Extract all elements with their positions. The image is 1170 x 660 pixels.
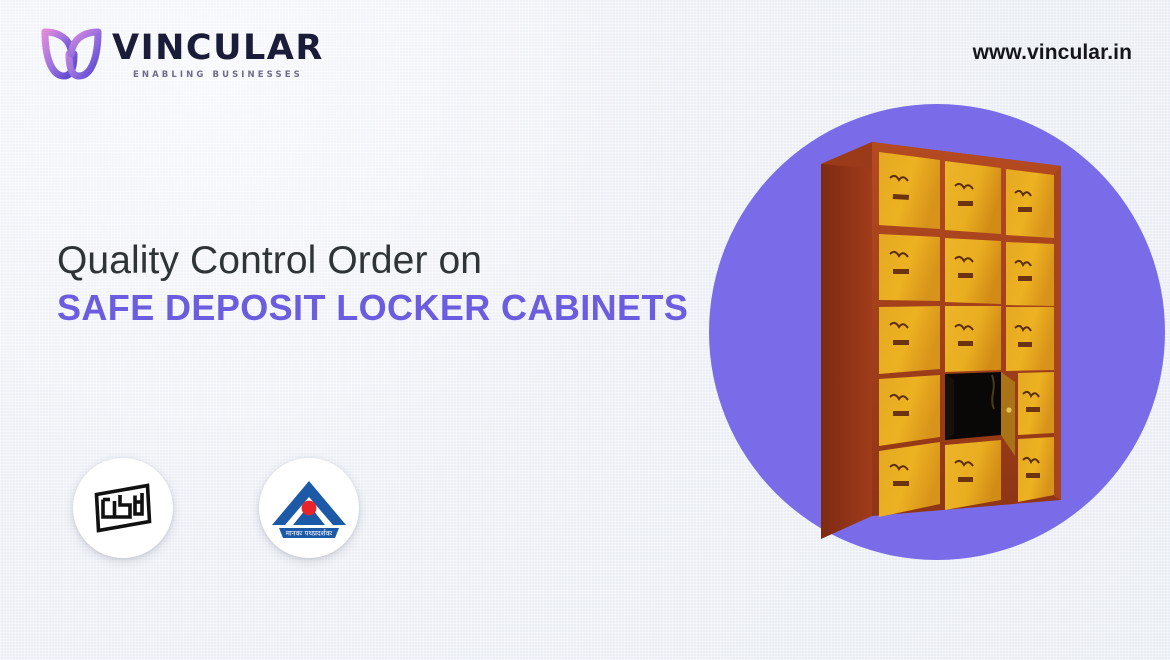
- locker-door[interactable]: [945, 161, 1001, 234]
- cabinet-side-panel: [821, 142, 872, 539]
- locker-door[interactable]: [879, 375, 940, 446]
- promo-banner: VINCULAR ENABLING BUSINESSES www.vincula…: [0, 0, 1170, 660]
- bis-red-dot: [302, 501, 317, 516]
- locker-door[interactable]: [1018, 437, 1054, 502]
- locker-door[interactable]: [1006, 307, 1054, 371]
- product-visual: [709, 104, 1165, 560]
- locker-door[interactable]: [1006, 169, 1054, 238]
- website-url[interactable]: www.vincular.in: [973, 41, 1132, 65]
- brand-logo[interactable]: VINCULAR ENABLING BUSINESSES: [38, 24, 324, 86]
- isi-mark-icon: [90, 481, 156, 535]
- locker-door[interactable]: [879, 152, 940, 229]
- certification-badges: मानकः पथप्रदर्शकः: [73, 458, 359, 558]
- headline-primary: Quality Control Order on: [57, 238, 688, 284]
- locker-door[interactable]: [879, 442, 940, 517]
- page-title: Quality Control Order on SAFE DEPOSIT LO…: [57, 238, 688, 329]
- locker-door[interactable]: [879, 234, 940, 301]
- open-locker-compartment[interactable]: [945, 372, 1001, 440]
- locker-door[interactable]: [879, 306, 940, 374]
- brand-wordmark: VINCULAR ENABLING BUSINESSES: [112, 31, 324, 80]
- cabinet-right-edge: [1054, 167, 1061, 500]
- vincular-butterfly-logo-icon: [38, 24, 106, 86]
- isi-mark-badge[interactable]: [73, 458, 173, 558]
- locker-door[interactable]: [1006, 242, 1054, 306]
- bis-logo-badge[interactable]: मानकः पथप्रदर्शकः: [259, 458, 359, 558]
- headline-accent: SAFE DEPOSIT LOCKER CABINETS: [57, 286, 688, 329]
- locker-door[interactable]: [1018, 372, 1054, 435]
- bis-logo-icon: मानकः पथप्रदर्शकः: [270, 475, 348, 541]
- safe-deposit-locker-cabinet-image: [709, 104, 1165, 560]
- locker-door-grid: [879, 152, 1054, 517]
- brand-tagline: ENABLING BUSINESSES: [112, 70, 324, 80]
- locker-door[interactable]: [945, 238, 1001, 304]
- locker-door[interactable]: [945, 440, 1001, 510]
- brand-name: VINCULAR: [112, 31, 324, 66]
- bis-motto: मानकः पथप्रदर्शकः: [286, 528, 333, 537]
- locker-door[interactable]: [945, 306, 1001, 372]
